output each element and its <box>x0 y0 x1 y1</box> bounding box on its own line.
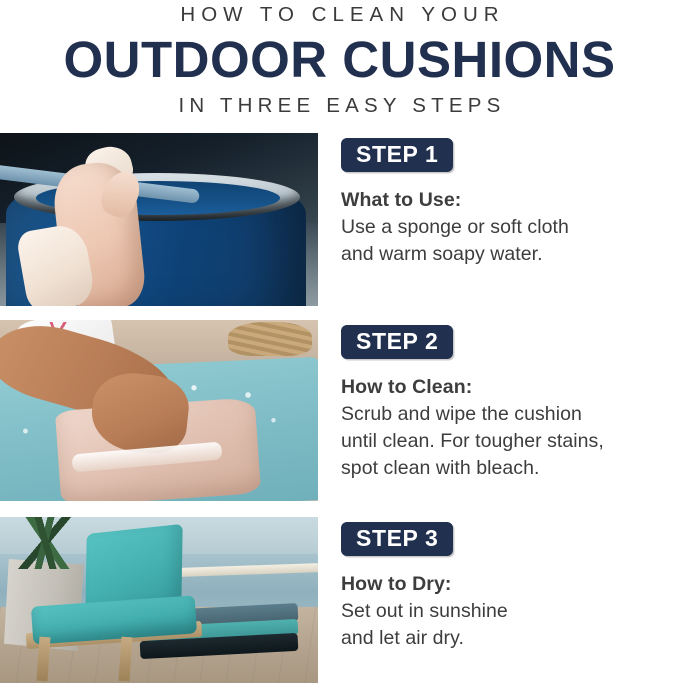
step-row: STEP 2 How to Clean: Scrub and wipe the … <box>0 320 679 501</box>
woven-basket <box>228 322 312 356</box>
step-1-title: What to Use: <box>341 188 679 213</box>
infographic-header: HOW TO CLEAN YOUR OUTDOOR CUSHIONS IN TH… <box>0 0 679 119</box>
step-3-title: How to Dry: <box>341 572 679 597</box>
page-title: OUTDOOR CUSHIONS <box>0 31 679 88</box>
step-1-badge: STEP 1 <box>341 138 453 172</box>
steps-list: STEP 1 What to Use: Use a sponge or soft… <box>0 133 679 683</box>
step-2-badge: STEP 2 <box>341 325 453 359</box>
step-2-photo <box>0 320 318 501</box>
step-3-photo <box>0 517 318 683</box>
row-gap <box>0 501 679 517</box>
agave-plant <box>8 517 82 569</box>
header-kicker: HOW TO CLEAN YOUR <box>0 2 679 28</box>
step-2-body: Scrub and wipe the cushion until clean. … <box>341 401 679 482</box>
step-2-copy: STEP 2 How to Clean: Scrub and wipe the … <box>318 320 679 482</box>
header-subkicker: IN THREE EASY STEPS <box>0 93 679 119</box>
step-2-title: How to Clean: <box>341 375 679 400</box>
step-3-copy: STEP 3 How to Dry: Set out in sunshine a… <box>318 517 679 652</box>
step-row: STEP 3 How to Dry: Set out in sunshine a… <box>0 517 679 683</box>
step-row: STEP 1 What to Use: Use a sponge or soft… <box>0 133 679 306</box>
step-1-photo <box>0 133 318 306</box>
step-1-copy: STEP 1 What to Use: Use a sponge or soft… <box>318 133 679 268</box>
step-3-badge: STEP 3 <box>341 522 453 556</box>
row-gap <box>0 306 679 320</box>
step-1-body: Use a sponge or soft cloth and warm soap… <box>341 214 679 268</box>
step-3-body: Set out in sunshine and let air dry. <box>341 598 679 652</box>
